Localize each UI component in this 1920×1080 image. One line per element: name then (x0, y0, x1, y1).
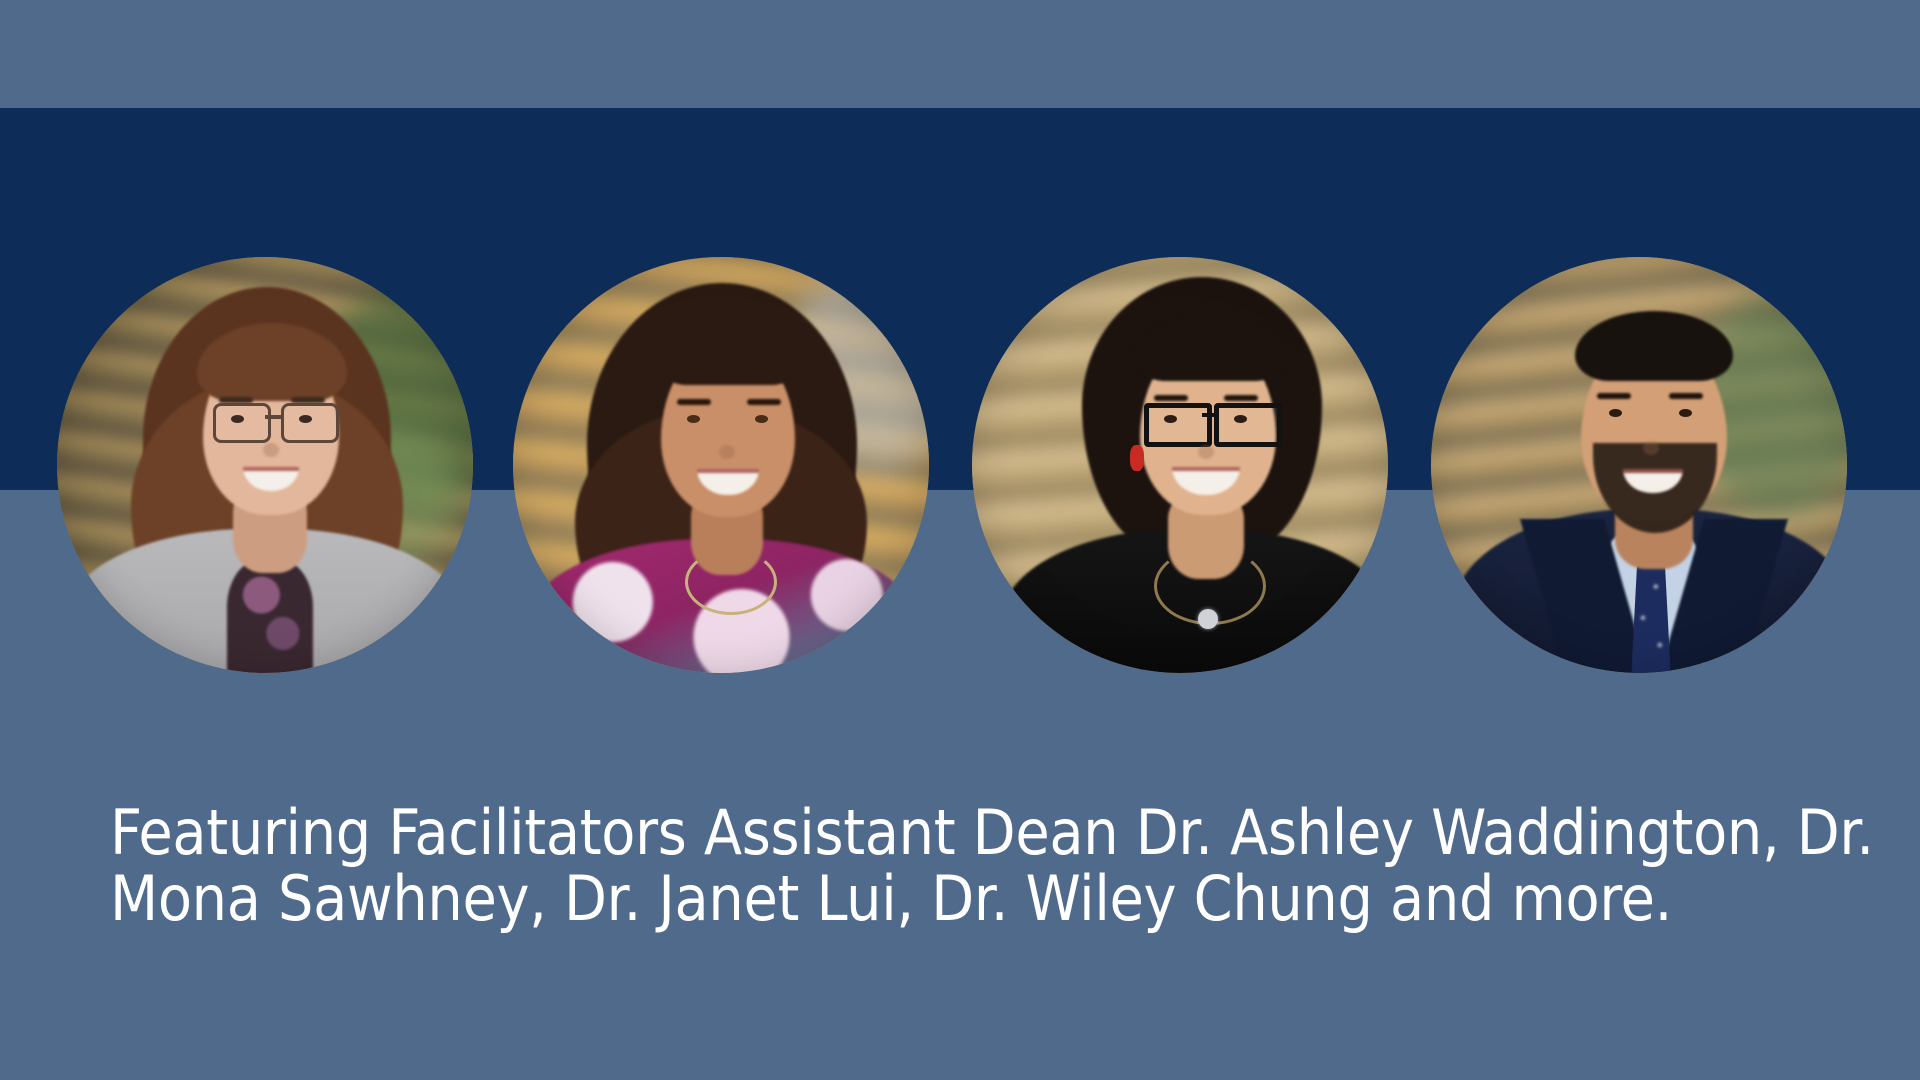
eye (1609, 409, 1622, 417)
glasses-lens-left (1144, 403, 1212, 447)
eye (1234, 415, 1247, 423)
caption-line-1: Featuring Facilitators Assistant Dean Dr… (110, 800, 1810, 866)
glasses-lens-left (213, 403, 271, 443)
eye (299, 415, 312, 423)
glasses-bridge (1202, 413, 1214, 417)
eyebrow (747, 399, 781, 405)
portrait-3-person (972, 257, 1388, 673)
portrait-4 (1431, 257, 1847, 673)
glasses-lens-right (281, 403, 339, 443)
portrait-1-photo (57, 257, 473, 673)
necklace (685, 549, 777, 615)
nose (1643, 441, 1659, 455)
portrait-2-photo (513, 257, 929, 673)
portrait-4-person (1431, 257, 1847, 673)
eye (755, 415, 768, 423)
portrait-1-person (57, 257, 473, 673)
caption: Featuring Facilitators Assistant Dean Dr… (110, 800, 1810, 931)
portrait-row (0, 257, 1920, 673)
eyebrow (677, 399, 711, 405)
nose (263, 443, 279, 457)
glasses-bridge (265, 415, 281, 419)
portrait-4-photo (1431, 257, 1847, 673)
eye (231, 415, 244, 423)
eyebrow (1224, 395, 1258, 401)
glasses-lens-right (1214, 403, 1282, 447)
eye (1679, 409, 1692, 417)
hair (1575, 311, 1733, 381)
eyebrow (1597, 393, 1631, 399)
band-top-slate (0, 0, 1920, 108)
eyebrow (1154, 395, 1188, 401)
eyebrow (1669, 393, 1703, 399)
portrait-1 (57, 257, 473, 673)
eye (1164, 415, 1177, 423)
caption-line-2: Mona Sawhney, Dr. Janet Lui, Dr. Wiley C… (110, 866, 1810, 932)
nose (1198, 445, 1214, 459)
portrait-3 (972, 257, 1388, 673)
floral-top (227, 559, 313, 673)
pendant (1198, 609, 1218, 629)
featured-facilitators-banner: Featuring Facilitators Assistant Dean Dr… (0, 0, 1920, 1080)
nose (719, 445, 735, 459)
portrait-2 (513, 257, 929, 673)
earring (1130, 445, 1144, 471)
portrait-3-photo (972, 257, 1388, 673)
portrait-2-person (513, 257, 929, 673)
eye (687, 415, 700, 423)
